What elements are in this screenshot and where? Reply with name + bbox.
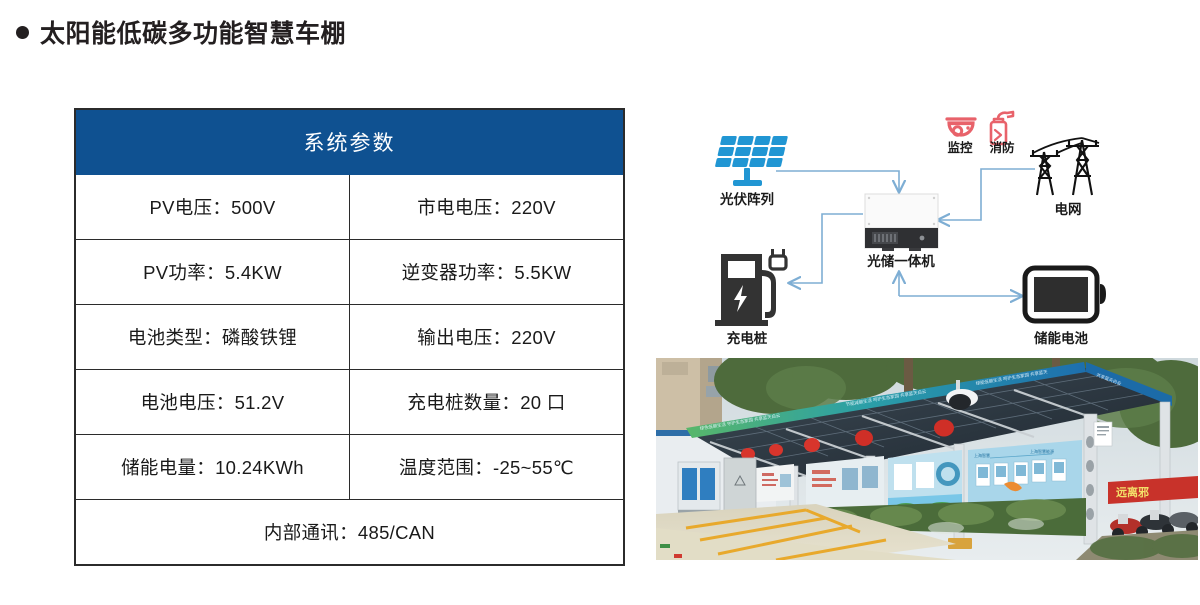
diagram-label-grid: 电网 (1055, 201, 1082, 217)
diagram-node-grid: 电网 (1030, 138, 1099, 217)
table-header-row: 系统参数 (75, 109, 624, 175)
diagram-node-inverter: 光储一体机 (865, 194, 938, 269)
flow-inverter-to-charger (789, 214, 863, 283)
cell-output-voltage: 输出电压：220V (350, 305, 625, 370)
cell-mains-voltage: 市电电压：220V (350, 175, 625, 240)
table-header-cell: 系统参数 (75, 109, 624, 175)
cell-temperature-range: 温度范围：-25~55℃ (350, 435, 625, 500)
cell-storage-capacity: 储能电量：10.24KWh (75, 435, 350, 500)
charging-pile-icon (715, 249, 786, 326)
table-row: 内部通讯：485/CAN (75, 500, 624, 566)
diagram-label-charger: 充电桩 (727, 330, 768, 346)
power-tower-icon (1030, 138, 1099, 195)
svg-text:上海智慧: 上海智慧 (974, 452, 990, 458)
diagram-label-pv: 光伏阵列 (719, 191, 774, 207)
diagram-label-battery: 储能电池 (1033, 330, 1088, 346)
page-title-text: 太阳能低碳多功能智慧车棚 (40, 14, 346, 50)
cell-inverter-power: 逆变器功率：5.5KW (350, 240, 625, 305)
cell-pv-voltage: PV电压：500V (75, 175, 350, 240)
flow-pv-to-inverter (776, 171, 899, 192)
cell-battery-voltage: 电池电压：51.2V (75, 370, 350, 435)
diagram-node-fire: 消防 (989, 112, 1015, 155)
diagram-label-inverter: 光储一体机 (866, 253, 935, 269)
fire-extinguisher-icon (991, 112, 1013, 144)
hybrid-inverter-icon (865, 194, 938, 251)
table-row: 电池电压：51.2V 充电桩数量：20 口 (75, 370, 624, 435)
solar-panel-icon (715, 136, 788, 186)
diagram-label-monitor: 监控 (947, 140, 973, 155)
flow-grid-to-inverter (938, 169, 1035, 220)
cell-battery-type: 电池类型：磷酸铁锂 (75, 305, 350, 370)
diagram-node-battery: 储能电池 (1025, 268, 1106, 346)
bullet-dot-icon (16, 26, 29, 39)
svg-text:远离邪: 远离邪 (1116, 485, 1149, 499)
svg-text:上海智慧能源: 上海智慧能源 (1030, 448, 1054, 454)
table-row: PV电压：500V 市电电压：220V (75, 175, 624, 240)
table-row: 储能电量：10.24KWh 温度范围：-25~55℃ (75, 435, 624, 500)
solar-carport-photo: 绿色低碳生活 守护生态家园 共享蓝天白云 节能减碳生活 呵护生态家园 共享蓝天白… (656, 358, 1198, 560)
table-row: 电池类型：磷酸铁锂 输出电压：220V (75, 305, 624, 370)
system-parameters-table: 系统参数 PV电压：500V 市电电压：220V PV功率：5.4KW 逆变器功… (74, 108, 625, 566)
system-architecture-diagram: 光伏阵列 监控 消防 (650, 100, 1200, 350)
cell-pv-power: PV功率：5.4KW (75, 240, 350, 305)
table-row: PV功率：5.4KW 逆变器功率：5.5KW (75, 240, 624, 305)
page-title: 太阳能低碳多功能智慧车棚 (16, 14, 346, 50)
diagram-label-fire: 消防 (989, 140, 1015, 155)
cell-internal-comm: 内部通讯：485/CAN (75, 500, 624, 566)
diagram-node-charger: 充电桩 (715, 249, 786, 346)
diagram-node-monitor: 监控 (947, 119, 975, 155)
cell-charger-count: 充电桩数量：20 口 (350, 370, 625, 435)
battery-icon (1025, 268, 1106, 321)
